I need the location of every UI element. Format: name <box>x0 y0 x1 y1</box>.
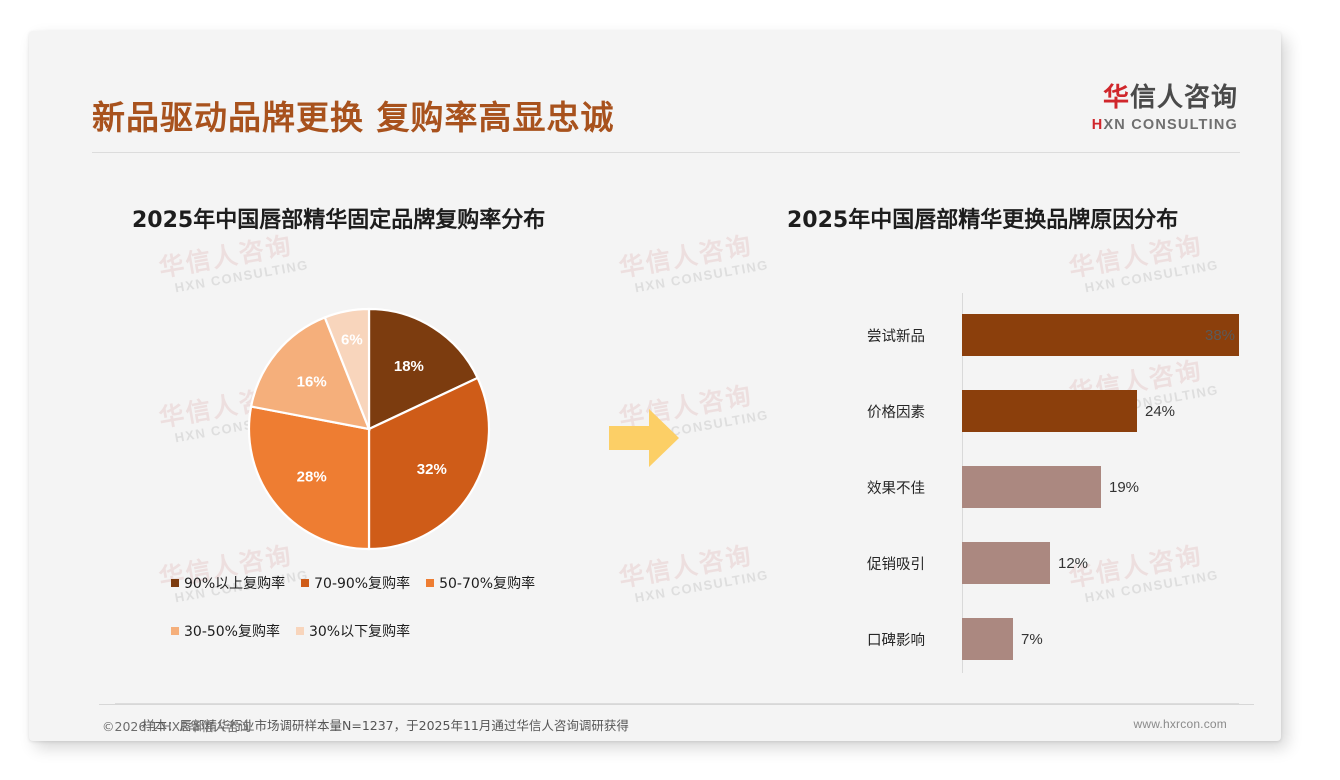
header-divider <box>92 152 1240 153</box>
legend-item[interactable]: 30-50%复购率 <box>171 621 280 641</box>
logo-chinese: 华信人咨询 <box>1092 85 1238 111</box>
bar-fill[interactable] <box>962 542 1050 584</box>
logo-chinese-rest: 信人咨询 <box>1130 83 1238 113</box>
logo-chinese-accent: 华 <box>1103 83 1130 113</box>
logo-english-accent: H <box>1092 117 1104 133</box>
legend-label: 50-70%复购率 <box>439 573 535 593</box>
bar-fill[interactable] <box>962 618 1013 660</box>
bar-chart-row: 促销吸引12% <box>867 542 1267 584</box>
legend-swatch <box>171 627 179 635</box>
footer-website[interactable]: www.hxrcon.com <box>1134 717 1228 731</box>
pie-slice-value: 18% <box>394 358 424 375</box>
legend-label: 90%以上复购率 <box>184 573 285 593</box>
right-arrow-svg <box>609 407 681 469</box>
brand-logo: 华信人咨询 HXN CONSULTING <box>1092 85 1238 133</box>
bar-chart-row: 效果不佳19% <box>867 466 1267 508</box>
bar-category-label: 尝试新品 <box>867 325 953 346</box>
watermark: 华信人咨询 HXN CONSULTING <box>1066 224 1220 298</box>
watermark-en: HXN CONSULTING <box>634 257 770 295</box>
legend-label: 30-50%复购率 <box>184 621 280 641</box>
logo-english: HXN CONSULTING <box>1092 118 1238 133</box>
bar-chart-title: 2025年中国唇部精华更换品牌原因分布 <box>787 202 1178 234</box>
pie-chart-title: 2025年中国唇部精华固定品牌复购率分布 <box>132 202 545 234</box>
watermark-en: HXN CONSULTING <box>634 567 770 605</box>
right-arrow-icon <box>609 407 681 474</box>
bar-fill[interactable] <box>962 390 1137 432</box>
logo-english-rest: XN CONSULTING <box>1103 117 1238 133</box>
pie-slices <box>249 309 489 549</box>
bar-track: 7% <box>962 618 1267 660</box>
bar-value-label: 19% <box>1109 479 1139 496</box>
pie-slice-value: 6% <box>341 331 363 348</box>
legend-swatch <box>301 579 309 587</box>
legend-swatch <box>296 627 304 635</box>
legend-item[interactable]: 50-70%复购率 <box>426 573 535 593</box>
pie-chart-svg: 18%32%28%16%6% <box>243 303 495 555</box>
bar-chart-row: 价格因素24% <box>867 390 1267 432</box>
bar-chart-row: 口碑影响7% <box>867 618 1267 660</box>
bar-fill[interactable] <box>962 314 1239 356</box>
bar-fill[interactable] <box>962 466 1101 508</box>
bar-track: 19% <box>962 466 1267 508</box>
watermark-cn: 华信人咨询 <box>616 224 768 285</box>
legend-item[interactable]: 70-90%复购率 <box>301 573 410 593</box>
watermark-en: HXN CONSULTING <box>174 257 310 295</box>
legend-row: 30-50%复购率30%以下复购率 <box>171 621 591 641</box>
slide-header: 新品驱动品牌更换 复购率高显忠诚 华信人咨询 HXN CONSULTING <box>29 31 1281 153</box>
bar-value-label: 38% <box>1205 327 1235 344</box>
slide-card: 华信人咨询 HXN CONSULTING 华信人咨询 HXN CONSULTIN… <box>29 31 1281 741</box>
bar-track: 12% <box>962 542 1267 584</box>
bar-value-label: 24% <box>1145 403 1175 420</box>
bar-category-label: 口碑影响 <box>867 629 953 650</box>
watermark: 华信人咨询 HXN CONSULTING <box>616 534 770 608</box>
bar-category-label: 效果不佳 <box>867 477 953 498</box>
pie-slice-value: 16% <box>297 374 327 391</box>
slide-root: 华信人咨询 HXN CONSULTING 华信人咨询 HXN CONSULTIN… <box>0 0 1340 780</box>
pie-legend: 90%以上复购率70-90%复购率50-70%复购率 30-50%复购率30%以… <box>171 573 591 669</box>
watermark-cn: 华信人咨询 <box>616 534 768 595</box>
watermark: 华信人咨询 HXN CONSULTING <box>156 224 310 298</box>
bar-chart: 尝试新品38%价格因素24%效果不佳19%促销吸引12%口碑影响7% <box>867 293 1267 673</box>
bar-value-label: 7% <box>1021 631 1043 648</box>
legend-swatch <box>426 579 434 587</box>
watermark-en: HXN CONSULTING <box>1084 257 1220 295</box>
footer-divider <box>99 704 1254 705</box>
legend-label: 70-90%复购率 <box>314 573 410 593</box>
legend-swatch <box>171 579 179 587</box>
legend-item[interactable]: 30%以下复购率 <box>296 621 410 641</box>
bar-category-label: 促销吸引 <box>867 553 953 574</box>
legend-row: 90%以上复购率70-90%复购率50-70%复购率 <box>171 573 591 593</box>
pie-slice-value: 28% <box>297 468 327 485</box>
bar-track: 24% <box>962 390 1267 432</box>
bar-track: 38% <box>962 314 1267 356</box>
bar-chart-row: 尝试新品38% <box>867 314 1267 356</box>
footer-copyright: ©2026.1 HXR华信人咨询 <box>102 716 251 735</box>
pie-slice-value: 32% <box>417 461 447 478</box>
slide-footer: ©2026.1 HXR华信人咨询 www.hxrcon.com <box>29 704 1281 744</box>
legend-item[interactable]: 90%以上复购率 <box>171 573 285 593</box>
page-title: 新品驱动品牌更换 复购率高显忠诚 <box>92 91 615 139</box>
legend-label: 30%以下复购率 <box>309 621 410 641</box>
bar-value-label: 12% <box>1058 555 1088 572</box>
bar-category-label: 价格因素 <box>867 401 953 422</box>
watermark: 华信人咨询 HXN CONSULTING <box>616 224 770 298</box>
pie-chart: 18%32%28%16%6% <box>243 303 495 555</box>
